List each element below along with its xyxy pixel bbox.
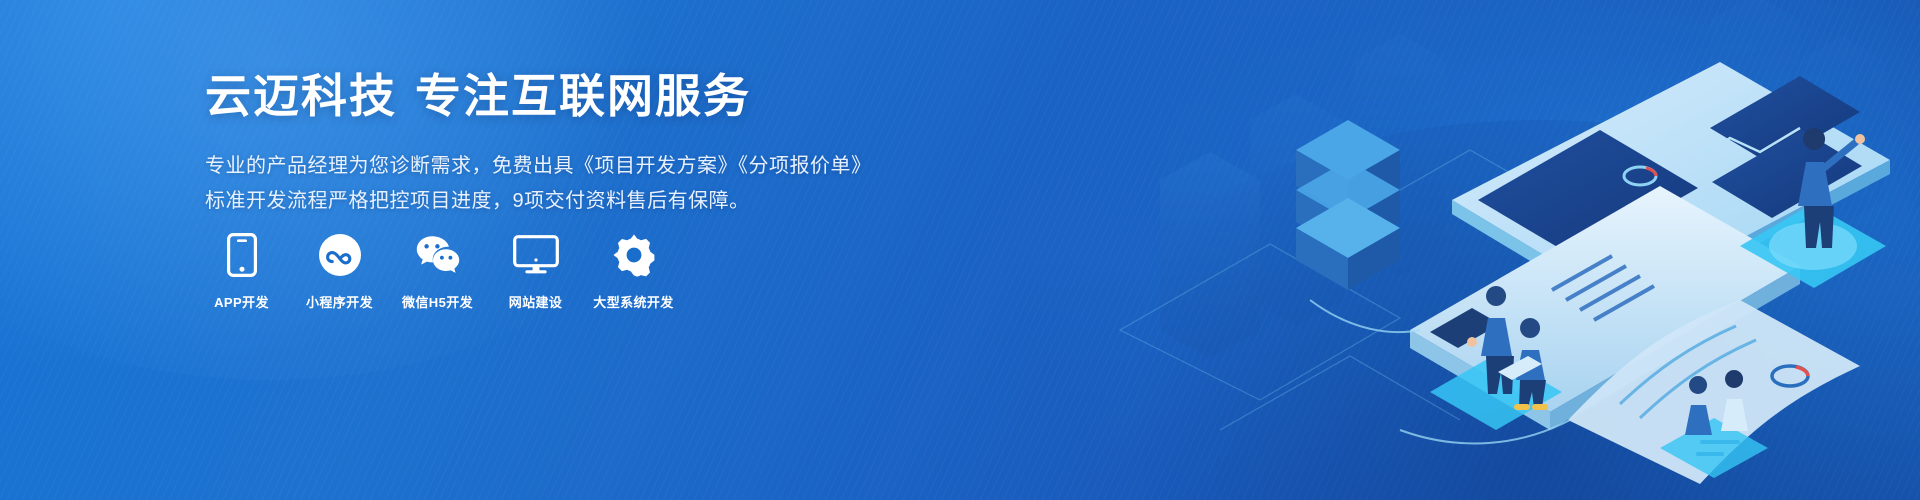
- banner-subtitle: 专业的产品经理为您诊断需求，免费出具《项目开发方案》《分项报价单》 标准开发流程…: [205, 149, 925, 219]
- service-list: APP开发 小程序开发 微信: [205, 232, 670, 311]
- service-label: 小程序开发: [306, 292, 373, 311]
- subtitle-line-2: 标准开发流程严格把控项目进度，9项交付资料售后有保障。: [205, 184, 925, 219]
- service-item-mini-program[interactable]: 小程序开发: [303, 232, 376, 311]
- mini-program-icon: [318, 232, 362, 278]
- page-title: 云迈科技专注互联网服务: [205, 70, 925, 123]
- banner-copy: 云迈科技专注互联网服务 专业的产品经理为您诊断需求，免费出具《项目开发方案》《分…: [205, 70, 925, 219]
- service-label: APP开发: [214, 292, 269, 311]
- service-label: 大型系统开发: [593, 292, 673, 311]
- headline-tagline: 专注互联网服务: [415, 70, 751, 122]
- mobile-phone-icon: [227, 232, 257, 278]
- service-label: 微信H5开发: [402, 292, 473, 311]
- wechat-icon: [415, 232, 461, 278]
- service-item-wechat-h5[interactable]: 微信H5开发: [401, 232, 474, 311]
- service-item-large-system[interactable]: 大型系统开发: [597, 232, 670, 311]
- subtitle-line-1: 专业的产品经理为您诊断需求，免费出具《项目开发方案》《分项报价单》: [205, 149, 925, 184]
- service-item-website[interactable]: 网站建设: [499, 232, 572, 311]
- isometric-tech-dashboard-illustration: [1100, 0, 1920, 500]
- monitor-icon: [513, 232, 559, 278]
- service-label: 网站建设: [509, 292, 563, 311]
- gear-icon: [612, 232, 656, 278]
- headline-brand: 云迈科技: [205, 70, 397, 122]
- service-item-app[interactable]: APP开发: [205, 232, 278, 311]
- hero-banner: 云迈科技专注互联网服务 专业的产品经理为您诊断需求，免费出具《项目开发方案》《分…: [0, 0, 1920, 500]
